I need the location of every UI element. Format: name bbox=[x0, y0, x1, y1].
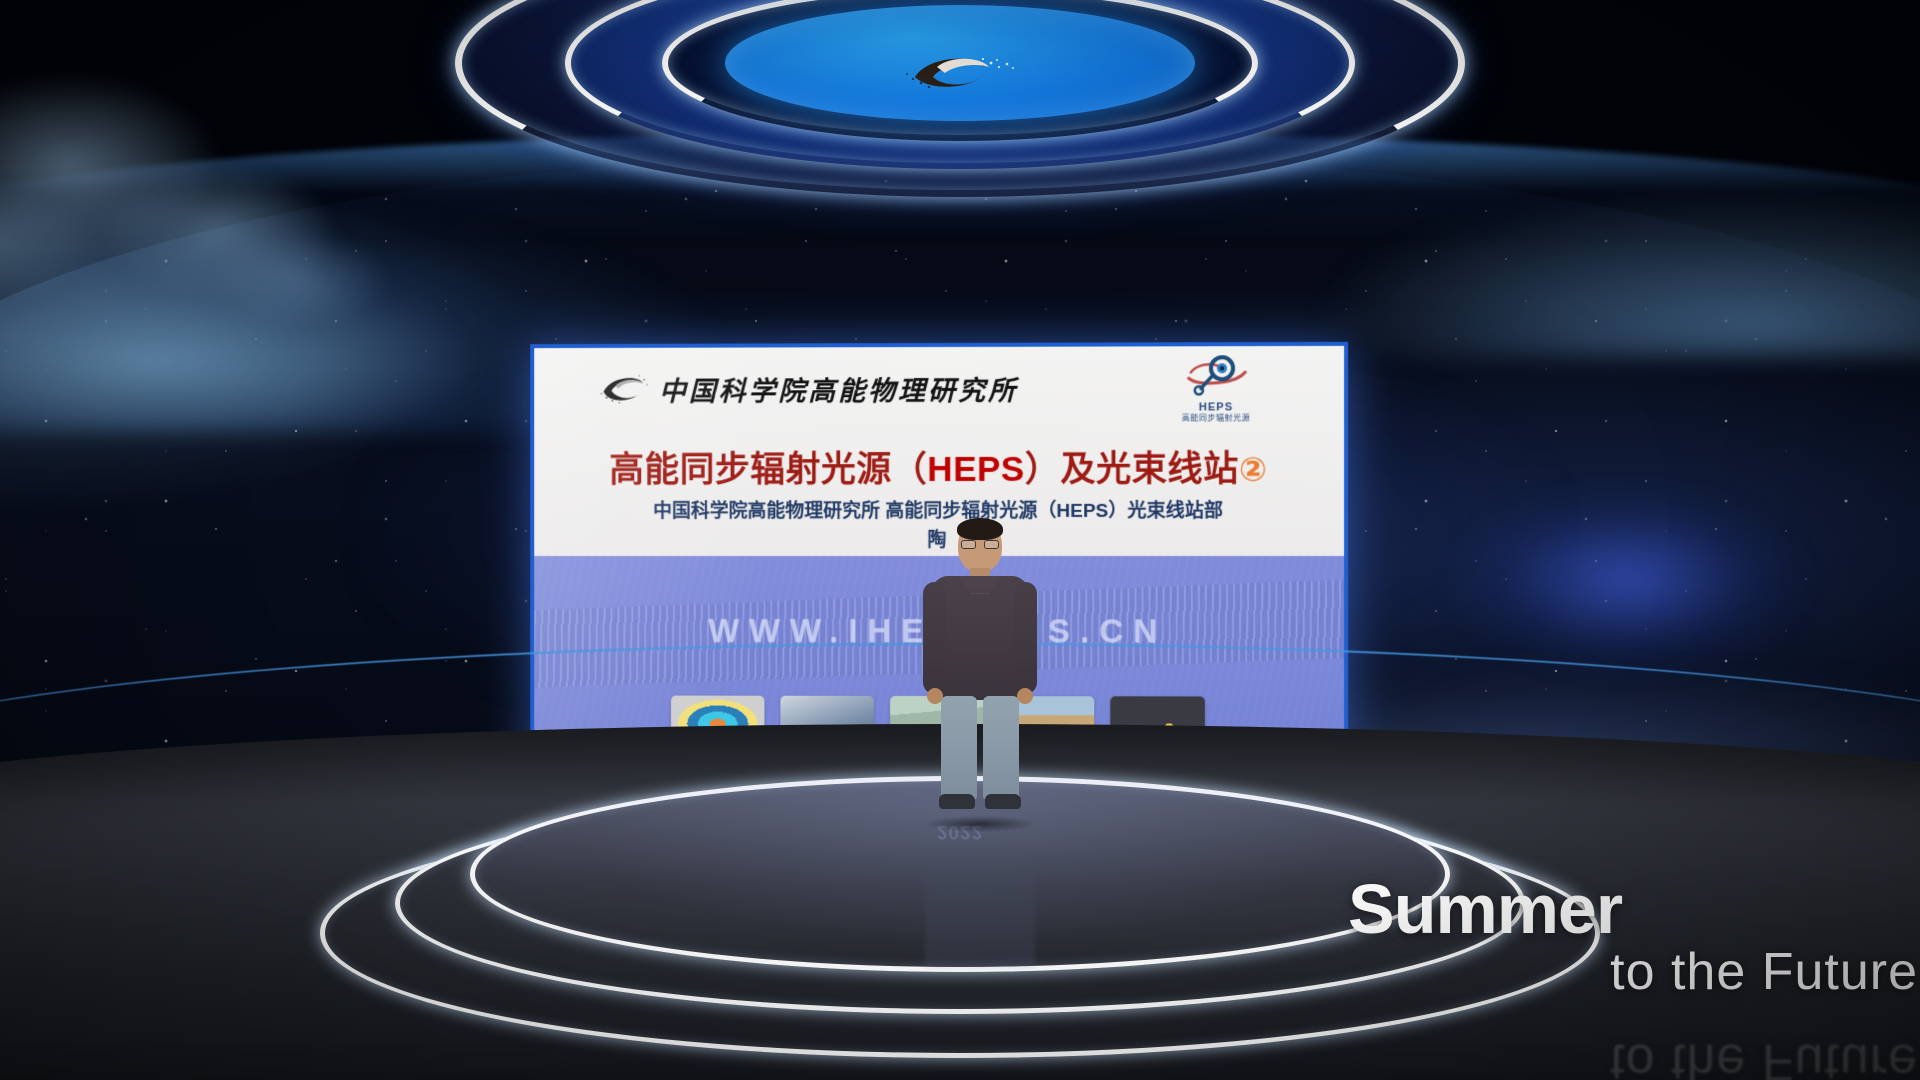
slide-title-prefix: 高能同步辐射光源（ bbox=[609, 450, 927, 489]
slide-title-en: HEPS bbox=[927, 450, 1024, 489]
heps-ring-icon bbox=[1181, 352, 1251, 396]
ihep-logo-text: 中国科学院高能物理研究所 bbox=[659, 368, 1018, 408]
virtual-studio-scene: 中国科学院高能物理研究所 HEPS 高能同步 bbox=[0, 0, 1920, 1080]
slide-affiliation: 中国科学院高能物理研究所 高能同步辐射光源（HEPS）光束线站部 bbox=[653, 501, 1223, 522]
presenter-shadow bbox=[925, 816, 1035, 832]
presenter bbox=[925, 520, 1035, 820]
presenter-arm-left bbox=[923, 582, 946, 694]
overlay-title: Summer to the Future bbox=[1348, 876, 1920, 1000]
overlay-title-line1: Summer bbox=[1348, 876, 1920, 943]
heps-acronym: HEPS bbox=[1181, 401, 1251, 413]
presenter-leg-left bbox=[941, 696, 977, 800]
slide-title-suffix: ）及光束线站 bbox=[1025, 450, 1239, 489]
presenter-shoe-left bbox=[939, 794, 975, 809]
heps-logo: HEPS 高能同步辐射光源 bbox=[1181, 352, 1251, 423]
presenter-arm-right bbox=[1014, 582, 1037, 694]
overhead-ring-light bbox=[410, 0, 1510, 223]
presenter-shoe-right bbox=[985, 794, 1021, 809]
presenter-leg-right bbox=[983, 696, 1019, 800]
slide-logo-row: 中国科学院高能物理研究所 HEPS 高能同步 bbox=[534, 356, 1344, 420]
ihep-galaxy-icon bbox=[596, 370, 650, 408]
nebula-cloud-haze bbox=[0, 151, 346, 367]
slide-title: 高能同步辐射光源（HEPS）及光束线站② bbox=[534, 440, 1344, 492]
presenter-legs bbox=[938, 696, 1022, 800]
ihep-logo: 中国科学院高能物理研究所 bbox=[596, 368, 1018, 408]
slide-title-badge: ② bbox=[1239, 451, 1268, 488]
presenter-hair bbox=[957, 518, 1003, 540]
speaker-floor-reflection bbox=[925, 818, 1035, 968]
overlay-title-line2: to the Future bbox=[1348, 945, 1920, 1000]
heps-chinese-name: 高能同步辐射光源 bbox=[1181, 413, 1251, 423]
galaxy-swirl-icon bbox=[885, 43, 1035, 95]
presenter-glasses bbox=[961, 540, 999, 549]
